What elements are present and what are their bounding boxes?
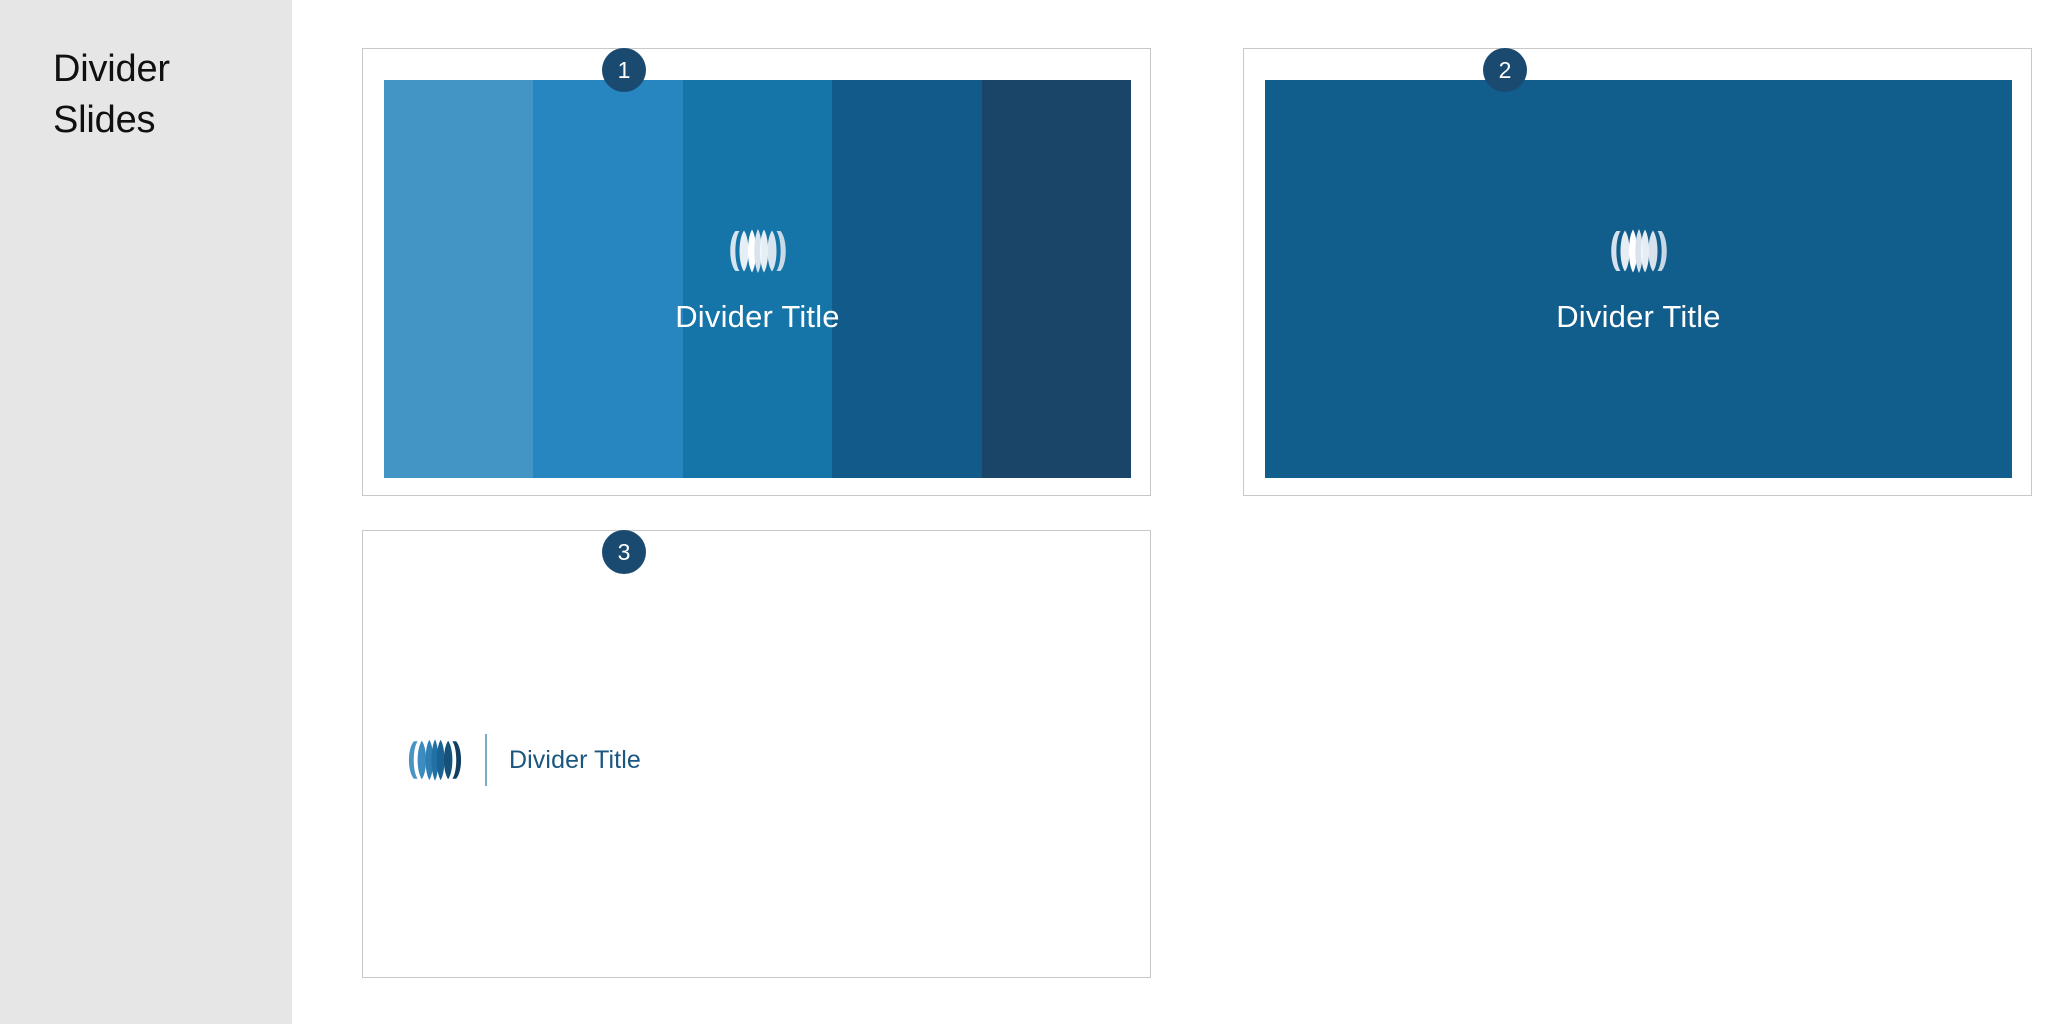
brand-logo-icon <box>404 737 466 783</box>
slide-2-content-area: Divider Title <box>1265 80 2012 478</box>
slide-3-content-area: Divider Title <box>363 531 1150 977</box>
slide-thumbnail-2[interactable]: Divider Title <box>1243 48 2032 496</box>
lockup-divider-rule <box>485 734 487 786</box>
logo-lockup: Divider Title <box>404 734 641 786</box>
slide-thumbnail-3[interactable]: Divider Title <box>362 530 1151 978</box>
slide-1-title: Divider Title <box>675 301 840 332</box>
slide-thumbnail-1[interactable]: Divider Title <box>362 48 1151 496</box>
slide-deck-page: Divider Slides <box>0 0 2048 1024</box>
slide-1-content-area: Divider Title <box>384 80 1131 478</box>
slide-number-badge-3[interactable]: 3 <box>602 530 646 574</box>
page-title: Divider Slides <box>53 44 268 146</box>
brand-logo-icon <box>1606 227 1672 275</box>
brand-logo-icon <box>725 227 791 275</box>
slide-2-centered-content: Divider Title <box>1265 80 2012 478</box>
slide-canvas: Divider Title 1 <box>292 0 2048 1024</box>
slide-2-title: Divider Title <box>1556 301 1721 332</box>
slide-number-badge-2[interactable]: 2 <box>1483 48 1527 92</box>
slide-number-badge-1[interactable]: 1 <box>602 48 646 92</box>
slide-3-title: Divider Title <box>509 748 641 773</box>
sidebar: Divider Slides <box>0 0 292 1024</box>
slide-1-centered-content: Divider Title <box>384 80 1131 478</box>
